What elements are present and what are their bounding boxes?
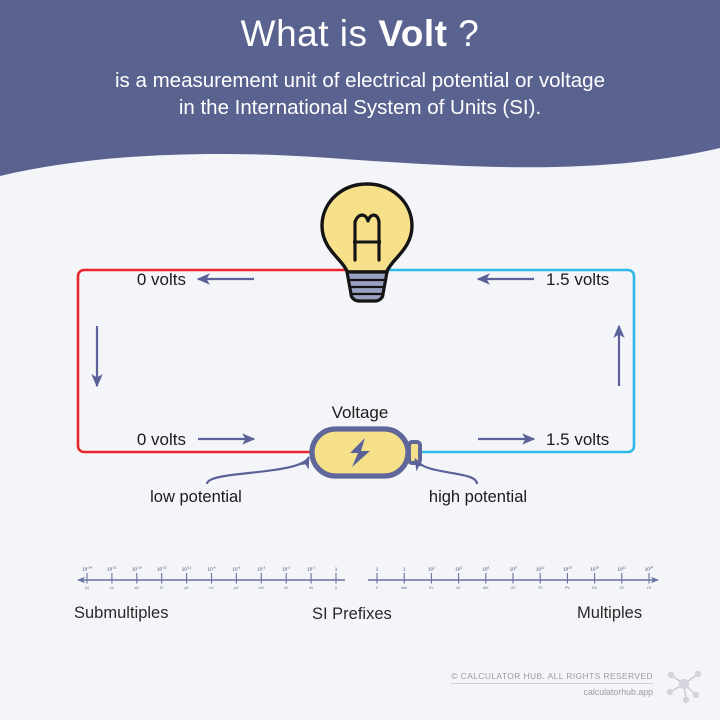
label-bottom-right-volts: 1.5 volts	[546, 430, 609, 449]
label-top-left-volts: 0 volts	[137, 270, 186, 289]
calculatorhub-logo-icon	[662, 662, 706, 706]
svg-text:103: 103	[455, 566, 462, 572]
svg-text:dV: dV	[309, 586, 314, 590]
svg-text:10-2: 10-2	[282, 566, 290, 572]
svg-text:TV: TV	[538, 586, 543, 590]
submultiples-scale: 10-24yV10-21zV10-18aV10-15fV10-12pV10-9n…	[78, 566, 345, 590]
svg-text:10-18: 10-18	[132, 566, 142, 572]
svg-text:1: 1	[376, 567, 379, 572]
svg-text:10-21: 10-21	[107, 566, 117, 572]
svg-text:1024: 1024	[645, 566, 654, 572]
svg-text:hV: hV	[429, 586, 434, 590]
header-wave-shape	[0, 0, 720, 176]
circuit-diagram: Voltage 0 volts 1.5 volts 0 volts 1.5 vo…	[0, 160, 720, 550]
caption-multiples: Multiples	[577, 604, 642, 623]
svg-text:ZV: ZV	[620, 586, 625, 590]
label-high-potential: high potential	[429, 488, 527, 506]
label-low-potential: low potential	[150, 488, 242, 506]
wire-left-red	[78, 270, 350, 452]
svg-text:10-9: 10-9	[208, 566, 216, 572]
battery-label: Voltage	[332, 403, 389, 422]
svg-text:µV: µV	[234, 586, 239, 590]
battery-icon	[312, 429, 420, 476]
multiples-scale: 1V1daV102hV103kV106MV109GV1012TV1015PV10…	[368, 566, 658, 590]
svg-text:10-12: 10-12	[182, 566, 192, 572]
site-url: calculatorhub.app	[451, 687, 653, 697]
svg-text:10-1: 10-1	[307, 566, 315, 572]
svg-text:aV: aV	[135, 586, 140, 590]
svg-text:nV: nV	[209, 586, 214, 590]
high-potential-connector	[415, 459, 477, 484]
svg-text:1012: 1012	[536, 566, 545, 572]
label-bottom-left-volts: 0 volts	[137, 430, 186, 449]
svg-text:1015: 1015	[563, 566, 572, 572]
svg-text:MV: MV	[483, 586, 489, 590]
svg-text:kV: kV	[457, 586, 462, 590]
svg-text:V: V	[376, 586, 379, 590]
svg-text:10-24: 10-24	[82, 566, 92, 572]
svg-text:yV: yV	[85, 586, 90, 590]
svg-text:1: 1	[335, 567, 338, 572]
svg-text:10-15: 10-15	[157, 566, 167, 572]
svg-text:pV: pV	[184, 586, 189, 590]
svg-text:EV: EV	[592, 586, 597, 590]
svg-text:V: V	[335, 586, 338, 590]
svg-text:zV: zV	[110, 586, 115, 590]
label-top-right-volts: 1.5 volts	[546, 270, 609, 289]
svg-text:10-3: 10-3	[257, 566, 265, 572]
svg-text:cV: cV	[284, 586, 289, 590]
svg-text:PV: PV	[565, 586, 570, 590]
svg-text:mV: mV	[259, 586, 265, 590]
svg-text:YV: YV	[647, 586, 652, 590]
footer-text: © CALCULATOR HUB. ALL RIGHTS RESERVED ca…	[451, 671, 653, 698]
svg-text:1021: 1021	[618, 566, 627, 572]
header-band	[0, 0, 720, 185]
svg-text:109: 109	[510, 566, 517, 572]
caption-si-prefixes: SI Prefixes	[312, 605, 392, 624]
svg-text:1018: 1018	[590, 566, 599, 572]
scale-captions: Submultiples SI Prefixes Multiples	[0, 604, 720, 634]
svg-text:106: 106	[482, 566, 489, 572]
light-bulb-icon	[322, 184, 412, 301]
svg-text:102: 102	[428, 566, 435, 572]
low-potential-connector	[207, 457, 309, 484]
svg-text:10-6: 10-6	[232, 566, 240, 572]
svg-text:GV: GV	[510, 586, 516, 590]
svg-text:fV: fV	[160, 586, 164, 590]
copyright-text: © CALCULATOR HUB. ALL RIGHTS RESERVED	[451, 671, 653, 685]
wire-right-blue	[384, 270, 634, 452]
svg-text:1: 1	[403, 567, 406, 572]
footer: © CALCULATOR HUB. ALL RIGHTS RESERVED ca…	[451, 662, 706, 706]
svg-text:daV: daV	[401, 586, 408, 590]
caption-submultiples: Submultiples	[74, 604, 168, 623]
